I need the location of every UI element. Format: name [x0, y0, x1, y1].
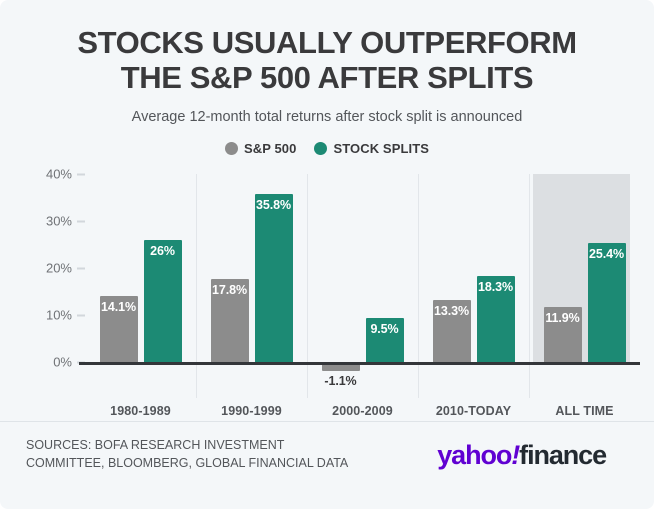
y-axis-tick-mark: [77, 268, 85, 270]
plot-area: 14.1%17.8%-1.1%13.3%11.9%26%35.8%9.5%18.…: [85, 168, 640, 398]
bar-value-label: 9.5%: [370, 322, 398, 336]
title-line-1: STOCKS USUALLY OUTPERFORM: [26, 26, 628, 61]
bar-stock-splits-1980-1989: 26%: [144, 240, 182, 362]
bar-stock-splits-all-time: 25.4%: [588, 243, 626, 362]
y-axis: 0%10%20%30%40%: [0, 168, 85, 398]
chart-subtitle: Average 12-month total returns after sto…: [0, 109, 654, 125]
y-axis-tick-label: 30%: [46, 214, 72, 229]
legend-item-stock-splits: STOCK SPLITS: [314, 141, 429, 156]
x-axis-label: 1980-1989: [110, 404, 171, 418]
bar-s-p-500-1990-1999: 17.8%: [211, 279, 249, 363]
title-line-2: THE S&P 500 AFTER SPLITS: [26, 61, 628, 96]
bar-s-p-500-all-time: 11.9%: [544, 307, 582, 363]
x-axis-label: ALL TIME: [555, 404, 613, 418]
bar-s-p-500-2000-2009: -1.1%: [322, 365, 360, 370]
logo-text-finance: finance: [519, 440, 606, 470]
bar-value-label: 13.3%: [434, 304, 469, 318]
bar-value-label: 35.8%: [256, 198, 291, 212]
y-axis-tick-mark: [77, 221, 85, 223]
zero-baseline: [79, 362, 640, 365]
y-axis-tick: 30%: [46, 214, 85, 229]
sources-line-2: COMMITTEE, BLOOMBERG, GLOBAL FINANCIAL D…: [26, 454, 348, 472]
sources-line-1: SOURCES: BOFA RESEARCH INVESTMENT: [26, 436, 348, 454]
bar-value-label: 26%: [150, 244, 175, 258]
y-axis-tick: 40%: [46, 167, 85, 182]
bar-value-label: -1.1%: [324, 374, 356, 388]
bar-stock-splits-1990-1999: 35.8%: [255, 194, 293, 362]
y-axis-tick-label: 40%: [46, 167, 72, 182]
legend-swatch-icon-sp500: [225, 142, 238, 155]
bar-value-label: 17.8%: [212, 283, 247, 297]
bar-value-label: 11.9%: [545, 311, 579, 325]
y-axis-tick: 10%: [46, 308, 85, 323]
y-axis-tick-mark: [77, 315, 85, 317]
infographic-card: STOCKS USUALLY OUTPERFORM THE S&P 500 AF…: [0, 0, 654, 509]
chart-legend: S&P 500 STOCK SPLITS: [0, 141, 654, 156]
chart-header: STOCKS USUALLY OUTPERFORM THE S&P 500 AF…: [0, 0, 654, 125]
y-axis-tick-label: 0%: [53, 355, 72, 370]
x-axis-label: 2010-TODAY: [436, 404, 511, 418]
plot-wrapper: 0%10%20%30%40% 14.1%17.8%-1.1%13.3%11.9%…: [0, 168, 654, 398]
sources-note: SOURCES: BOFA RESEARCH INVESTMENT COMMIT…: [26, 436, 348, 472]
chart-footer: SOURCES: BOFA RESEARCH INVESTMENT COMMIT…: [0, 421, 654, 509]
legend-label-stock-splits: STOCK SPLITS: [333, 141, 429, 156]
logo-text-yahoo: yahoo: [437, 440, 511, 470]
bar-value-label: 25.4%: [589, 247, 624, 261]
bar-stock-splits-2000-2009: 9.5%: [366, 318, 404, 363]
bar-stock-splits-2010-today: 18.3%: [477, 276, 515, 362]
bar-s-p-500-1980-1989: 14.1%: [100, 296, 138, 362]
x-axis-label: 1990-1999: [221, 404, 282, 418]
x-axis-label: 2000-2009: [332, 404, 393, 418]
y-axis-tick-label: 20%: [46, 261, 72, 276]
legend-item-sp500: S&P 500: [225, 141, 297, 156]
legend-label-sp500: S&P 500: [244, 141, 297, 156]
bar-value-label: 14.1%: [101, 300, 136, 314]
y-axis-tick-label: 10%: [46, 308, 72, 323]
legend-swatch-icon-stock-splits: [314, 142, 327, 155]
page-title: STOCKS USUALLY OUTPERFORM THE S&P 500 AF…: [26, 26, 628, 95]
bar-value-label: 18.3%: [478, 280, 513, 294]
logo-text-bang: !: [511, 440, 519, 470]
bar-s-p-500-2010-today: 13.3%: [433, 300, 471, 363]
y-axis-tick: 20%: [46, 261, 85, 276]
yahoo-finance-logo: yahoo!finance: [437, 440, 606, 471]
y-axis-tick-mark: [77, 174, 85, 176]
